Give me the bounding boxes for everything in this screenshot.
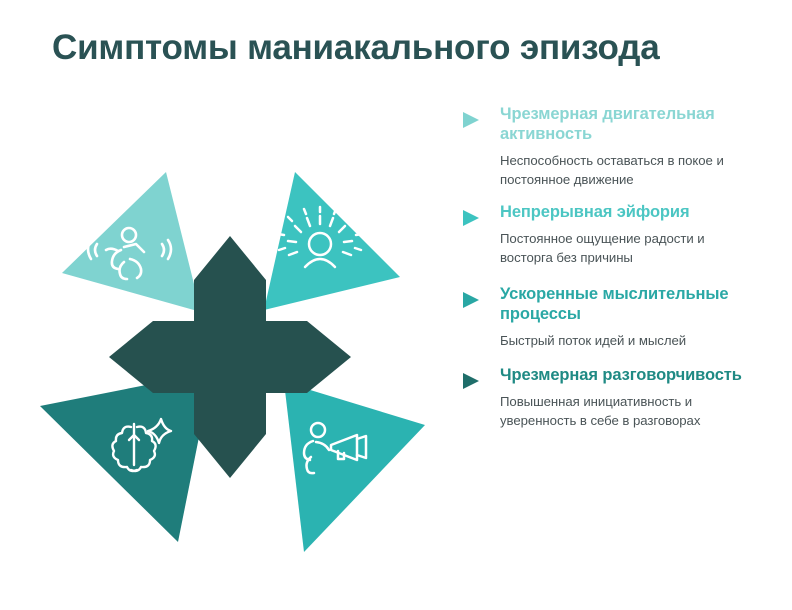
list-item: Непрерывная эйфория Постоянное ощущение … [460,202,760,267]
triangle-top-right [264,172,400,310]
symptom-heading: Непрерывная эйфория [500,202,760,222]
page-title: Симптомы маниакального эпизода [52,28,752,68]
triangle-bottom-right-shape [284,382,425,552]
list-item: Чрезмерная двигательная активность Неспо… [460,104,760,189]
triangle-bottom-right [284,382,425,552]
arrow-marker-icon [460,370,482,392]
symptom-body: Быстрый поток идей и мыслей [500,331,760,350]
arrow-marker-icon [460,289,482,311]
symptom-body: Постоянное ощущение радости и восторга б… [500,229,760,267]
list-item: Чрезмерная разговорчивость Повышенная ин… [460,365,760,430]
symptom-body: Повышенная инициативность и уверенность … [500,392,760,430]
central-graphic [20,140,440,570]
triangle-bottom-left-shape [40,372,212,542]
list-item: Ускоренные мыслительные процессы Быстрый… [460,284,760,350]
triangle-bottom-left [40,372,212,542]
symptom-heading: Чрезмерная разговорчивость [500,365,760,385]
triangle-top-right-shape [264,172,400,310]
symptom-heading: Чрезмерная двигательная активность [500,104,760,144]
symptom-body: Неспособность оставаться в покое и посто… [500,151,760,189]
arrow-marker-icon [460,207,482,229]
symptom-heading: Ускоренные мыслительные процессы [500,284,760,324]
infographic-page: Симптомы маниакального эпизода [0,0,792,610]
symptom-list: Чрезмерная двигательная активность Неспо… [460,104,760,430]
arrow-marker-icon [460,109,482,131]
triangle-top-left [62,172,201,312]
